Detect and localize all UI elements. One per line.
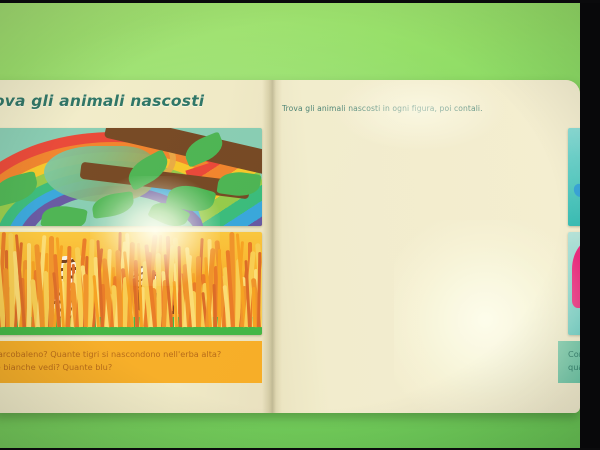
photo-frame-right	[580, 0, 600, 450]
panel-sunflowers-butterflies	[568, 128, 580, 226]
grass-blade	[252, 287, 256, 327]
book-spine-gutter	[262, 80, 282, 413]
right-page: Trova gli animali nascosti in ogni figur…	[270, 80, 580, 413]
panel-rainbow-chameleon	[0, 128, 262, 226]
left-page: rova gli animali nascosti	[0, 80, 270, 413]
question-text-left: ell'arcobaleno? Quante tigri si nascondo…	[0, 348, 262, 373]
question-line-1: Conta le farfalle verdi e quelle gialle.…	[568, 348, 580, 361]
page-instruction-right: Trova gli animali nascosti in ogni figur…	[282, 104, 572, 113]
question-line-2: quanti pesci blu ci sono? Conta anche qu…	[568, 361, 580, 374]
question-line-1: ell'arcobaleno? Quante tigri si nascondo…	[0, 348, 262, 361]
photo-frame-top	[0, 0, 600, 3]
page-title-left: rova gli animali nascosti	[0, 92, 266, 110]
question-text-right: Conta le farfalle verdi e quelle gialle.…	[568, 348, 580, 373]
grass-blade	[218, 249, 221, 327]
open-book: rova gli animali nascosti	[0, 80, 580, 413]
photo-canvas: rova gli animali nascosti	[0, 0, 600, 450]
question-line-2: alle bianche vedi? Quante blu?	[0, 361, 262, 374]
coral-pink-fan	[572, 236, 580, 308]
panel-coral-reef	[568, 232, 580, 335]
panel-tigers-grass	[0, 232, 262, 335]
